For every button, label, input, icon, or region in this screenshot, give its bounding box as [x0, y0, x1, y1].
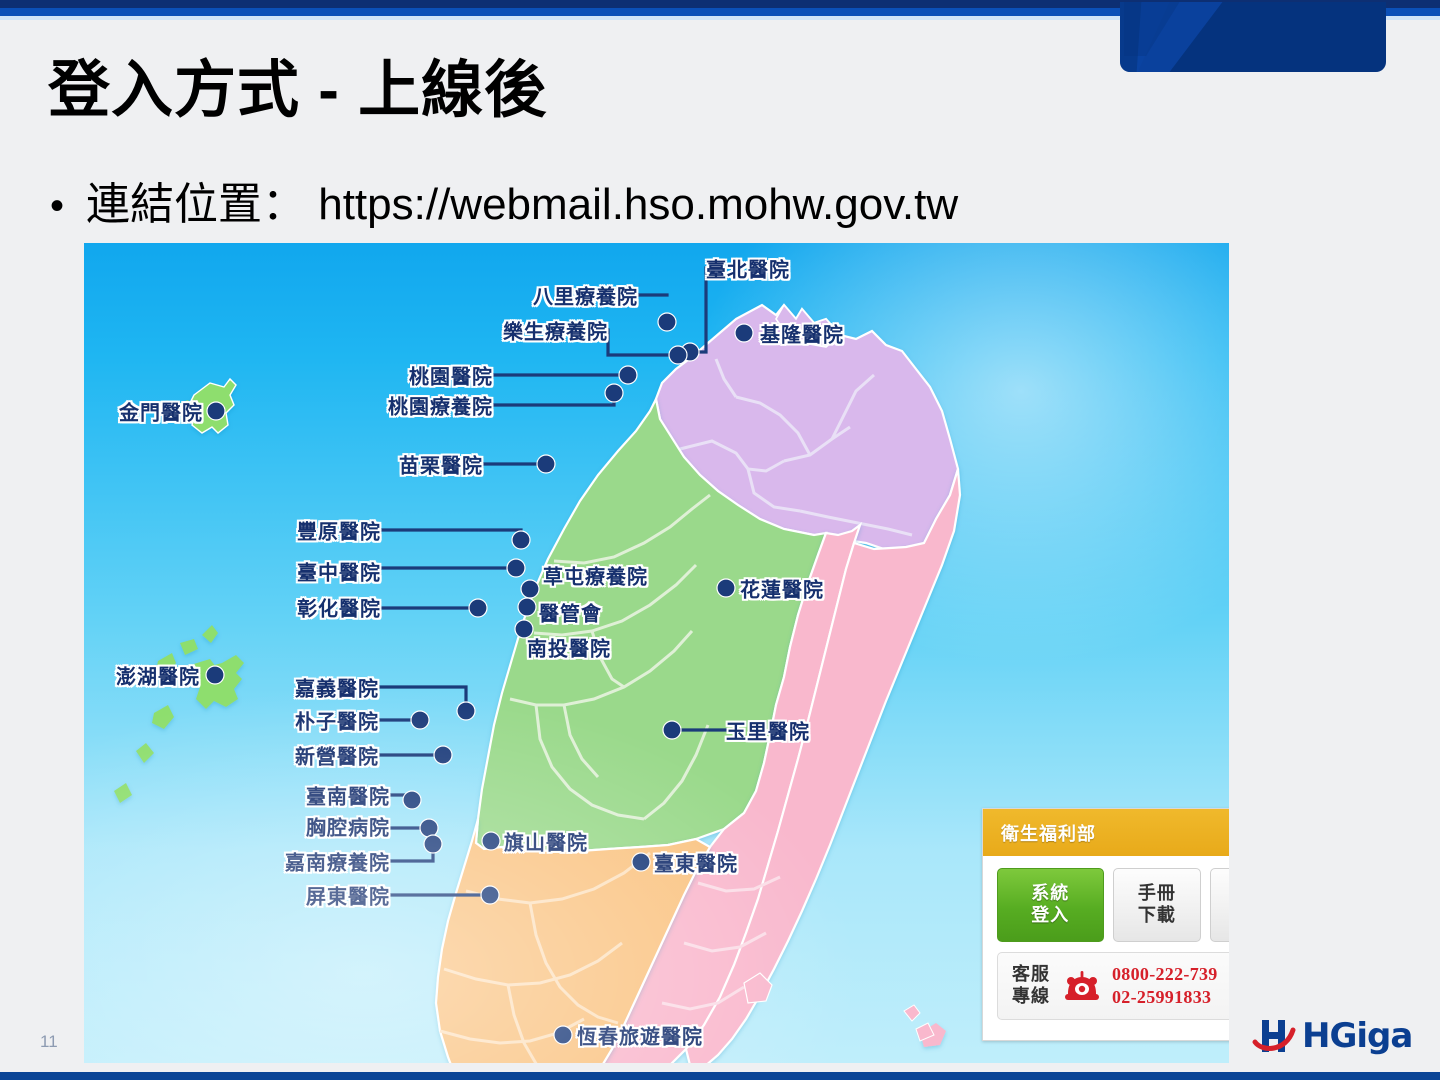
- hospital-marker-dot[interactable]: [669, 346, 687, 364]
- page-title: 登入方式 - 上線後: [48, 58, 547, 123]
- manual-download-button[interactable]: 手冊 下載: [1113, 868, 1202, 942]
- hospital-label: 金門醫院: [119, 397, 203, 426]
- region-south: [436, 819, 710, 1063]
- bullet-row: • 連結位置： https://webmail.hso.mohw.gov.tw: [50, 168, 1350, 232]
- hospital-marker-dot[interactable]: [482, 832, 500, 850]
- hgiga-logo: HGiga: [1252, 1016, 1412, 1056]
- penghu-islands: [114, 625, 244, 803]
- hospital-label: 朴子醫院: [295, 706, 379, 735]
- hospital-label: 豐原醫院: [297, 516, 381, 545]
- hospital-label: 玉里醫院: [726, 716, 810, 745]
- hospital-marker-dot[interactable]: [619, 366, 637, 384]
- hotline-number-local: 02-25991833: [1112, 986, 1218, 1009]
- hospital-label: 臺北醫院: [706, 254, 790, 283]
- info-panel-header: 衛生福利部: [983, 809, 1229, 856]
- hgiga-mark-icon: [1252, 1016, 1296, 1056]
- hospital-label: 屏東醫院: [306, 881, 390, 910]
- page-number: 11: [40, 1032, 58, 1052]
- hospital-label: 旗山醫院: [504, 827, 588, 856]
- bullet-text: 連結位置： https://webmail.hso.mohw.gov.tw: [86, 168, 958, 232]
- hospital-marker-dot[interactable]: [518, 598, 536, 616]
- info-panel-title: 衛生福利部: [1001, 820, 1096, 846]
- hospital-label: 花蓮醫院: [740, 574, 824, 603]
- hospital-marker-dot[interactable]: [434, 746, 452, 764]
- hospital-label: 彰化醫院: [297, 593, 381, 622]
- hospital-label: 臺中醫院: [297, 557, 381, 586]
- hospital-label: 南投醫院: [527, 633, 611, 662]
- hospital-label: 澎湖醫院: [116, 661, 200, 690]
- bullet-marker-icon: •: [50, 186, 64, 226]
- hospital-marker-dot[interactable]: [735, 324, 753, 342]
- hospital-label: 嘉南療養院: [285, 847, 390, 876]
- hospital-marker-dot[interactable]: [411, 711, 429, 729]
- manual-download-label-line2: 下載: [1138, 905, 1176, 928]
- hospital-marker-dot[interactable]: [663, 721, 681, 739]
- hospital-marker-dot[interactable]: [632, 853, 650, 871]
- hospital-label: 桃園療養院: [388, 391, 493, 420]
- hospital-marker-dot[interactable]: [206, 666, 224, 684]
- hgiga-wordmark: HGiga: [1302, 1016, 1412, 1056]
- hospital-label: 新營醫院: [295, 741, 379, 770]
- hospital-label: 臺南醫院: [306, 781, 390, 810]
- hospital-marker-dot[interactable]: [658, 313, 676, 331]
- hospital-marker-dot[interactable]: [420, 819, 438, 837]
- taiwan-hospital-map: 臺北醫院八里療養院基隆醫院樂生療養院桃園醫院桃園療養院金門醫院苗栗醫院豐原醫院臺…: [84, 243, 1229, 1063]
- chevron-decoration-icon: [1120, 2, 1242, 72]
- hospital-label: 胸腔病院: [306, 812, 390, 841]
- hospital-label: 八里療養院: [533, 281, 638, 310]
- hospital-label: 樂生療養院: [503, 316, 608, 345]
- hospital-marker-dot[interactable]: [207, 402, 225, 420]
- hotline-numbers: 0800-222-739 02-25991833: [1112, 963, 1218, 1010]
- offshore-east-islets: [904, 1005, 934, 1041]
- corner-decoration-badge: [1120, 2, 1386, 72]
- manual-download-label-line1: 手冊: [1138, 883, 1176, 906]
- customer-service-hotline: 客服 專線 0800-222-739 02-25991833: [997, 952, 1229, 1020]
- hospital-marker-dot[interactable]: [507, 559, 525, 577]
- info-panel-button-row: 系統 登入 手冊 下載 留言 諮詢: [983, 856, 1229, 942]
- hospital-label: 嘉義醫院: [295, 673, 379, 702]
- hospital-marker-dot[interactable]: [424, 835, 442, 853]
- mohw-info-panel: 衛生福利部 系統 登入 手冊 下載 留言 諮詢 客服 專線: [982, 808, 1229, 1041]
- message-inquiry-button[interactable]: 留言 諮詢: [1210, 868, 1229, 942]
- hotline-label-line2: 專線: [1012, 986, 1050, 1009]
- telephone-icon: [1062, 969, 1102, 1003]
- system-login-label-line2: 登入: [1031, 905, 1069, 928]
- hospital-marker-dot[interactable]: [717, 579, 735, 597]
- hospital-marker-dot[interactable]: [469, 599, 487, 617]
- bottom-bar-stripe: [0, 1072, 1440, 1080]
- hotline-number-toll-free: 0800-222-739: [1112, 963, 1218, 986]
- hospital-label: 草屯療養院: [543, 561, 648, 590]
- system-login-button[interactable]: 系統 登入: [997, 868, 1104, 942]
- hospital-marker-dot[interactable]: [537, 455, 555, 473]
- hospital-label: 臺東醫院: [654, 848, 738, 877]
- hotline-label-line1: 客服: [1012, 964, 1050, 987]
- hospital-label: 桃園醫院: [409, 361, 493, 390]
- hospital-marker-dot[interactable]: [521, 580, 539, 598]
- system-login-label-line1: 系統: [1031, 883, 1069, 906]
- hospital-marker-dot[interactable]: [554, 1026, 572, 1044]
- hotline-label: 客服 專線: [1012, 964, 1050, 1009]
- hospital-label: 恆春旅遊醫院: [577, 1021, 703, 1050]
- hengchun-offshore-islet: [744, 973, 772, 1003]
- hospital-marker-dot[interactable]: [605, 384, 623, 402]
- hospital-marker-dot[interactable]: [481, 886, 499, 904]
- hospital-label: 基隆醫院: [760, 319, 844, 348]
- hospital-marker-dot[interactable]: [457, 702, 475, 720]
- hospital-label: 苗栗醫院: [399, 450, 483, 479]
- hospital-marker-dot[interactable]: [512, 531, 530, 549]
- hospital-label: 醫管會: [539, 598, 602, 627]
- hospital-marker-dot[interactable]: [403, 791, 421, 809]
